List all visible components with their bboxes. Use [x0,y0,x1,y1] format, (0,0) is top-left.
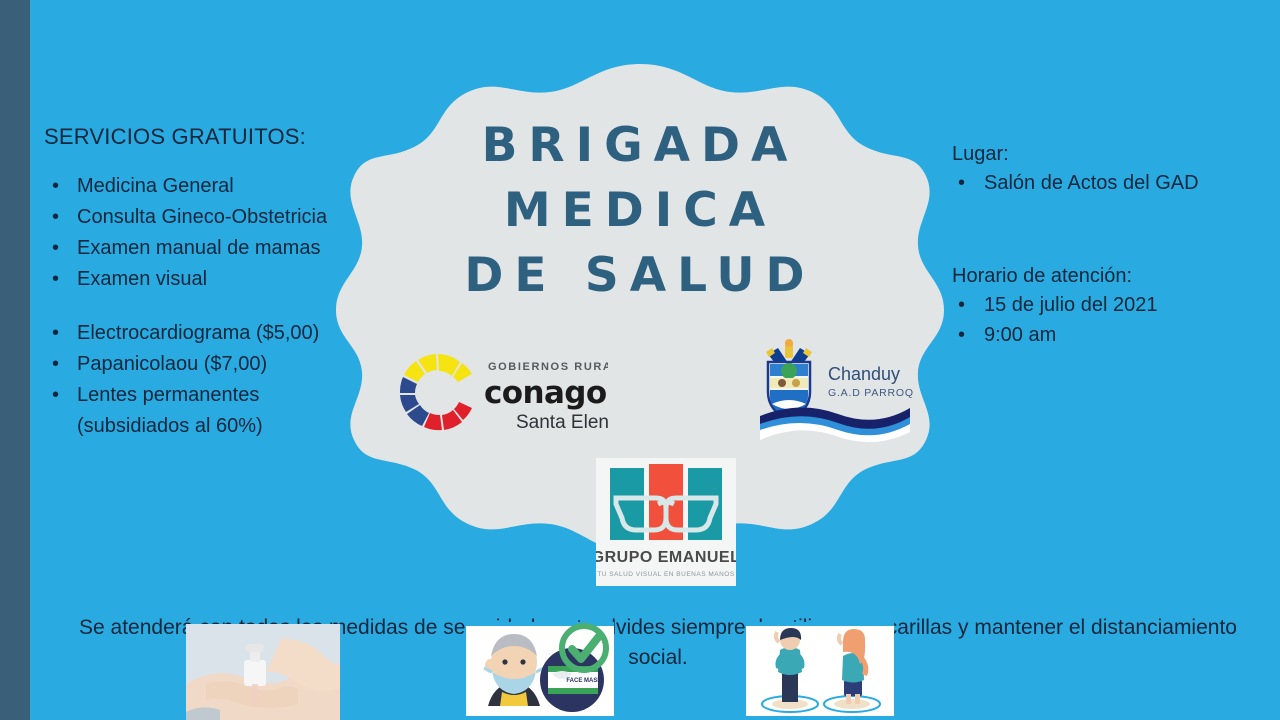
bullet-icon: • [958,290,965,320]
emanuel-tagline: TU SALUD VISUAL EN BUENAS MANOS [597,571,735,578]
chanduy-ribbon-wave-icon [760,407,910,442]
bullet-icon: • [958,320,965,350]
conagopare-ring-icon [400,354,472,430]
grupo-emanuel-logo: GRUPO EMANUEL TU SALUD VISUAL EN BUENAS … [596,458,736,586]
bullet-icon: • [52,319,59,347]
conagopare-name: conagopare [484,375,608,411]
service-item: •Examen manual de mamas [44,234,374,262]
schedule-heading: Horario de atención: [952,262,1272,290]
social-distancing-illustration [746,622,894,720]
service-item: •Electrocardiograma ($5,00) [44,319,374,347]
poster-canvas: BRIGADA MEDICA DE SALUD SERVICIOS GRATUI… [0,0,1280,720]
service-label: Medicina General [77,175,234,197]
bullet-icon: • [52,381,59,409]
schedule-time: 9:00 am [984,324,1056,346]
bullet-icon: • [52,203,59,231]
chanduy-gad-logo: Chanduy G.A.D PARROQUIAL [748,338,913,446]
service-item: •Consulta Gineco-Obstetricia [44,203,374,231]
service-item: •Lentes permanentes [44,381,374,409]
info-section: Lugar: •Salón de Actos del GAD Horario d… [952,140,1272,350]
place-item: •Salón de Actos del GAD [952,168,1272,198]
service-label: Lentes permanentes [77,384,259,406]
services-list: •Medicina General •Consulta Gineco-Obste… [44,172,374,440]
conagopare-kicker: GOBIERNOS RURALES [488,361,608,373]
title-line-1: BRIGADA [430,122,850,169]
place-label: Salón de Actos del GAD [984,172,1199,194]
conagopare-region: Santa Elena [516,412,608,433]
place-heading: Lugar: [952,140,1272,168]
bullet-icon: • [52,172,59,200]
bullet-icon: • [52,350,59,378]
services-heading: SERVICIOS GRATUITOS: [44,124,374,150]
place-list: •Salón de Actos del GAD [952,168,1272,198]
left-edge-bar [0,0,30,720]
service-item: •Medicina General [44,172,374,200]
schedule-list: •15 de julio del 2021 •9:00 am [952,290,1272,350]
schedule-item: •9:00 am [952,320,1272,350]
chanduy-name: Chanduy [828,364,900,384]
service-item: •Examen visual [44,265,374,293]
conagopare-logo: GOBIERNOS RURALES conagopare Santa Elena [396,348,608,440]
title-line-3: DE SALUD [430,252,850,299]
title-line-2: MEDICA [430,187,850,234]
chanduy-subtitle: G.A.D PARROQUIAL [828,387,913,399]
service-label: Papanicolaou ($7,00) [77,353,267,375]
service-label: Examen visual [77,268,207,290]
schedule-date: 15 de julio del 2021 [984,294,1157,316]
face-mask-illustration: FACE MASK [466,622,614,720]
hand-sanitizer-photo [186,624,340,720]
service-label: Electrocardiograma ($5,00) [77,322,319,344]
service-label: Examen manual de mamas [77,237,320,259]
service-item: •Papanicolaou ($7,00) [44,350,374,378]
mask-box-text: FACE MASK [566,678,602,684]
service-label: Consulta Gineco-Obstetricia [77,206,327,228]
emanuel-name: GRUPO EMANUEL [596,549,736,566]
schedule-block: Horario de atención: •15 de julio del 20… [952,262,1272,350]
services-section: SERVICIOS GRATUITOS: •Medicina General •… [44,124,374,443]
poster-title: BRIGADA MEDICA DE SALUD [430,122,850,299]
service-label: (subsidiados al 60%) [77,415,263,437]
bullet-icon: • [958,168,965,198]
emanuel-glasses-icon [610,464,722,540]
bullet-icon: • [52,265,59,293]
schedule-item: •15 de julio del 2021 [952,290,1272,320]
bullet-icon: • [52,234,59,262]
service-item-continuation: (subsidiados al 60%) [44,412,374,440]
